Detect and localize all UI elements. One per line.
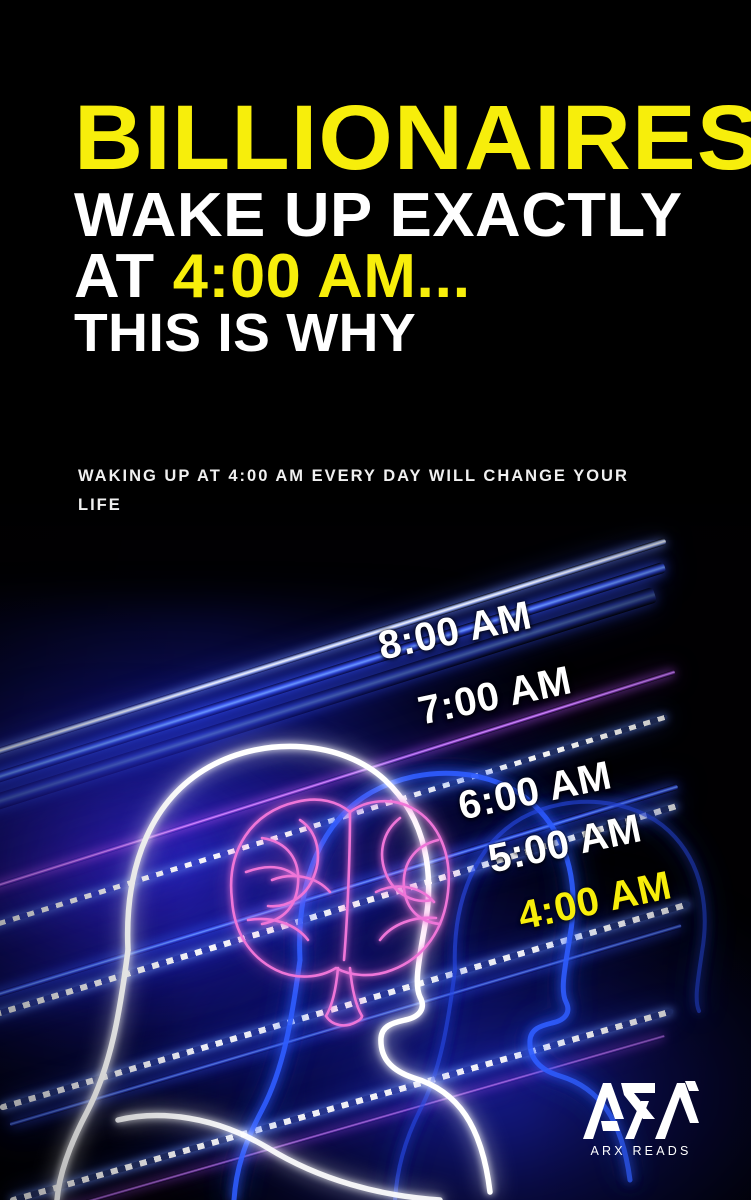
headline-line-3-accent: 4:00 AM... <box>173 242 471 311</box>
headline-block: BILLIONAIRES WAKE UP EXACTLY AT 4:00 AM.… <box>74 96 694 358</box>
headline-line-2: WAKE UP EXACTLY <box>74 187 706 244</box>
time-label-7am: 7:00 AM <box>414 658 575 734</box>
poster-canvas: BILLIONAIRES WAKE UP EXACTLY AT 4:00 AM.… <box>0 0 751 1200</box>
brand-logo: ARX READS <box>567 1079 715 1158</box>
neon-beam-1 <box>0 538 667 767</box>
headline-line-3: AT 4:00 AM... <box>74 248 706 305</box>
headline-line-1: BILLIONAIRES <box>74 96 719 181</box>
violet-glow-cloud <box>0 700 370 1030</box>
headline-line-4: THIS IS WHY <box>74 309 706 359</box>
subheadline: WAKING UP AT 4:00 AM EVERY DAY WILL CHAN… <box>78 462 638 520</box>
headline-line-3-prefix: AT <box>74 242 173 311</box>
time-label-4am: 4:00 AM <box>514 863 675 939</box>
arx-logo-icon <box>581 1079 701 1141</box>
logo-wordmark: ARX READS <box>567 1144 715 1158</box>
time-label-8am: 8:00 AM <box>374 593 535 669</box>
